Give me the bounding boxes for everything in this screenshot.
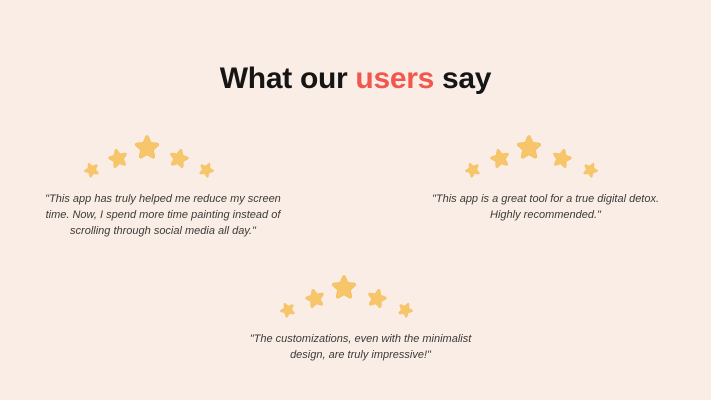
page-title: What our users say	[0, 62, 711, 96]
star-rating	[418, 132, 673, 178]
testimonial-quote: "This app is a great tool for a true dig…	[418, 192, 673, 224]
star-icon	[486, 145, 513, 172]
star-icon	[461, 158, 484, 181]
testimonial-card: "This app has truly helped me reduce my …	[38, 132, 288, 240]
star-icon	[330, 273, 358, 301]
testimonial-card: "The customizations, even with the minim…	[233, 272, 488, 364]
testimonial-card: "This app is a great tool for a true dig…	[418, 132, 673, 224]
testimonials-slide: What our users say "This app has truly h…	[0, 0, 711, 400]
testimonial-quote: "The customizations, even with the minim…	[233, 332, 488, 364]
page-title-prefix: What our	[220, 62, 356, 95]
star-rating	[233, 272, 488, 318]
star-icon	[364, 285, 391, 312]
testimonial-quote: "This app has truly helped me reduce my …	[38, 192, 288, 240]
star-icon	[80, 158, 103, 181]
star-icon	[549, 145, 576, 172]
star-icon	[195, 158, 218, 181]
page-title-suffix: say	[434, 62, 491, 95]
star-icon	[394, 298, 417, 321]
star-icon	[276, 298, 299, 321]
star-rating	[38, 132, 288, 178]
page-title-accent: users	[355, 62, 434, 95]
star-icon	[166, 145, 193, 172]
star-icon	[105, 145, 132, 172]
star-icon	[301, 285, 328, 312]
star-icon	[133, 133, 161, 161]
star-icon	[515, 133, 543, 161]
star-icon	[579, 158, 602, 181]
